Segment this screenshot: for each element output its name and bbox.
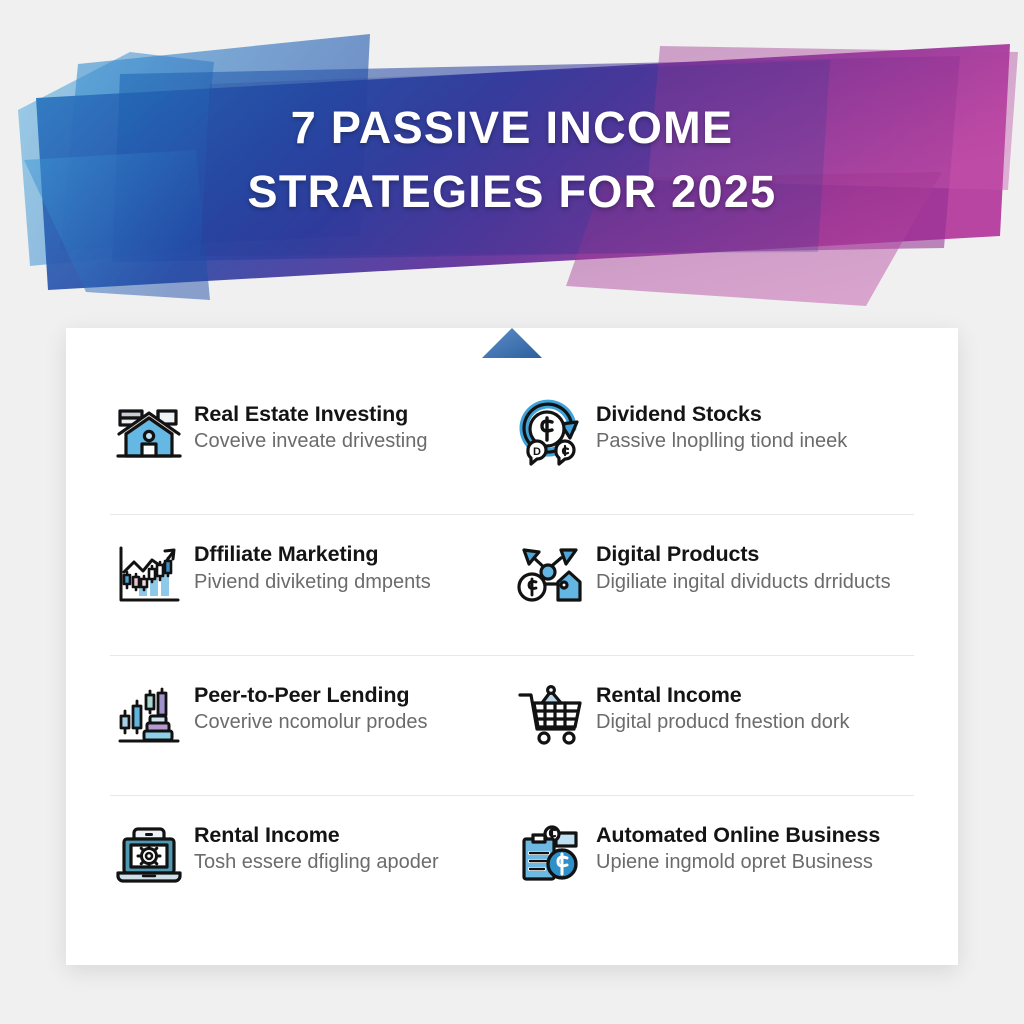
- strategy-text: Peer-to-Peer Lending Coverive ncomolur p…: [194, 677, 427, 736]
- strategy-text: Dffiliate Marketing Piviend diviketing d…: [194, 536, 431, 595]
- shopping-cart-icon: [512, 677, 590, 755]
- candlestick-growth-chart-icon: [110, 536, 188, 614]
- strategy-description: Upiene ingmold opret Business: [596, 850, 880, 876]
- strategies-card: Real Estate Investing Coveive inveate dr…: [66, 328, 958, 965]
- strategy-title: Rental Income: [194, 823, 439, 848]
- strategy-description: Coverive ncomolur prodes: [194, 710, 427, 736]
- strategy-title: Peer-to-Peer Lending: [194, 683, 427, 708]
- strategy-item-dffiliate-marketing[interactable]: Dffiliate Marketing Piviend diviketing d…: [110, 514, 512, 654]
- strategy-item-dividend-stocks[interactable]: D Dividend Stocks Passive lnoplling tion…: [512, 374, 914, 514]
- strategy-description: Piviend diviketing dmpents: [194, 570, 431, 596]
- strategy-text: Dividend Stocks Passive lnoplling tiond …: [596, 396, 847, 455]
- strategy-description: Passive lnoplling tiond ineek: [596, 429, 847, 455]
- strategy-text: Real Estate Investing Coveive inveate dr…: [194, 396, 427, 455]
- card-pointer-triangle-up-icon: [481, 327, 543, 359]
- strategy-item-rental-income-cart[interactable]: Rental Income Digital producd fnestion d…: [512, 655, 914, 795]
- strategy-description: Digital producd fnestion dork: [596, 710, 849, 736]
- dollar-coin-refresh-icon: D: [512, 396, 590, 474]
- banner-shape-center-overlap: [200, 60, 830, 256]
- strategy-title: Dffiliate Marketing: [194, 542, 431, 567]
- header-banner: [0, 0, 1024, 320]
- strategy-row: Dffiliate Marketing Piviend diviketing d…: [110, 514, 914, 654]
- strategy-description: Coveive inveate drivesting: [194, 429, 427, 455]
- svg-text:D: D: [533, 446, 541, 458]
- strategy-row: Peer-to-Peer Lending Coverive ncomolur p…: [110, 655, 914, 795]
- strategy-title: Automated Online Business: [596, 823, 880, 848]
- strategy-description: Tosh essere dfigling apoder: [194, 850, 439, 876]
- strategy-item-rental-income-laptop[interactable]: Rental Income Tosh essere dfigling apode…: [110, 795, 512, 935]
- strategy-text: Rental Income Digital producd fnestion d…: [596, 677, 849, 736]
- strategy-row: Real Estate Investing Coveive inveate dr…: [110, 374, 914, 514]
- candlestick-stacked-coins-icon: [110, 677, 188, 755]
- clipboard-dollar-icon: [512, 817, 590, 895]
- laptop-gear-icon: [110, 817, 188, 895]
- strategy-text: Rental Income Tosh essere dfigling apode…: [194, 817, 439, 876]
- strategy-item-digital-products[interactable]: Digital Products Digiliate ingital divid…: [512, 514, 914, 654]
- strategy-title: Digital Products: [596, 542, 891, 567]
- strategy-title: Dividend Stocks: [596, 402, 847, 427]
- strategy-item-automated-online-business[interactable]: Automated Online Business Upiene ingmold…: [512, 795, 914, 935]
- strategy-item-real-estate-investing[interactable]: Real Estate Investing Coveive inveate dr…: [110, 374, 512, 514]
- strategy-title: Real Estate Investing: [194, 402, 427, 427]
- strategy-item-peer-to-peer-lending[interactable]: Peer-to-Peer Lending Coverive ncomolur p…: [110, 655, 512, 795]
- strategy-text: Automated Online Business Upiene ingmold…: [596, 817, 880, 876]
- house-icon: [110, 396, 188, 474]
- strategy-title: Rental Income: [596, 683, 849, 708]
- strategy-text: Digital Products Digiliate ingital divid…: [596, 536, 891, 595]
- strategy-description: Digiliate ingital dividucts drriducts: [596, 570, 891, 596]
- strategy-row: Rental Income Tosh essere dfigling apode…: [110, 795, 914, 935]
- network-nodes-dollar-icon: [512, 536, 590, 614]
